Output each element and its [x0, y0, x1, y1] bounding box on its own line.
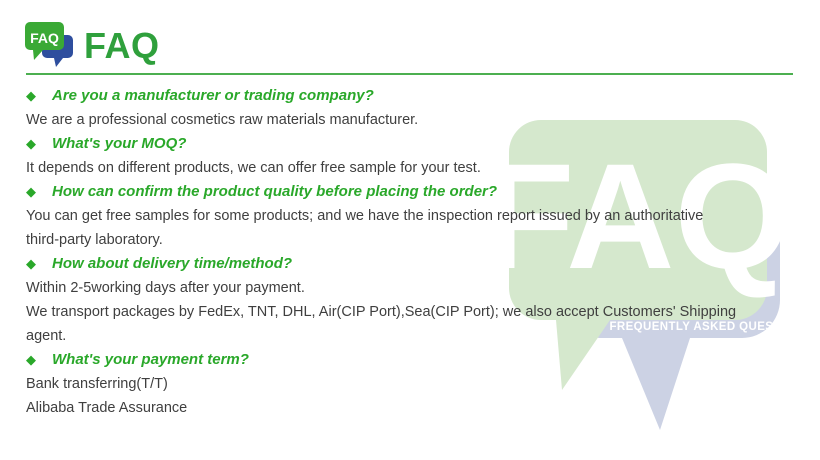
faq-question: ◆ Are you a manufacturer or trading comp…: [26, 84, 820, 108]
faq-answer-line: We are a professional cosmetics raw mate…: [26, 108, 820, 132]
svg-text:FAQ: FAQ: [30, 30, 59, 46]
faq-entry: ◆ Are you a manufacturer or trading comp…: [0, 84, 820, 132]
faq-answer-line: We transport packages by FedEx, TNT, DHL…: [26, 300, 820, 324]
faq-answer-line: third-party laboratory.: [26, 228, 820, 252]
faq-question: ◆ How about delivery time/method?: [26, 252, 820, 276]
faq-question: ◆ What's your MOQ?: [26, 132, 820, 156]
header-divider: [26, 73, 793, 75]
diamond-bullet-icon: ◆: [26, 348, 36, 372]
faq-question-text: How about delivery time/method?: [52, 255, 292, 272]
faq-question-text: What's your payment term?: [52, 351, 249, 368]
faq-answer-line: Within 2-5working days after your paymen…: [26, 276, 820, 300]
faq-entry: ◆ How about delivery time/method? Within…: [0, 252, 820, 348]
faq-question-text: Are you a manufacturer or trading compan…: [52, 87, 374, 104]
faq-question-text: What's your MOQ?: [52, 135, 186, 152]
faq-answer-line: Alibaba Trade Assurance: [26, 396, 820, 420]
faq-entry: ◆ How can confirm the product quality be…: [0, 180, 820, 252]
page-title: FAQ: [84, 24, 160, 68]
faq-answer-line: You can get free samples for some produc…: [26, 204, 820, 228]
faq-entry: ◆ What's your payment term? Bank transfe…: [0, 348, 820, 420]
diamond-bullet-icon: ◆: [26, 84, 36, 108]
faq-entry: ◆ What's your MOQ? It depends on differe…: [0, 132, 820, 180]
page-header: FAQ FAQ: [0, 0, 820, 80]
faq-question: ◆ What's your payment term?: [26, 348, 820, 372]
faq-answer-line: It depends on different products, we can…: [26, 156, 820, 180]
faq-answer-line: agent.: [26, 324, 820, 348]
diamond-bullet-icon: ◆: [26, 252, 36, 276]
faq-list: ◆ Are you a manufacturer or trading comp…: [0, 84, 820, 420]
diamond-bullet-icon: ◆: [26, 180, 36, 204]
diamond-bullet-icon: ◆: [26, 132, 36, 156]
faq-page: FAQ FREQUENTLY ASKED QUESTIONS FAQ FAQ ◆…: [0, 0, 820, 460]
faq-question-text: How can confirm the product quality befo…: [52, 183, 497, 200]
faq-answer-line: Bank transferring(T/T): [26, 372, 820, 396]
faq-question: ◆ How can confirm the product quality be…: [26, 180, 820, 204]
faq-logo-icon: FAQ: [23, 19, 75, 69]
